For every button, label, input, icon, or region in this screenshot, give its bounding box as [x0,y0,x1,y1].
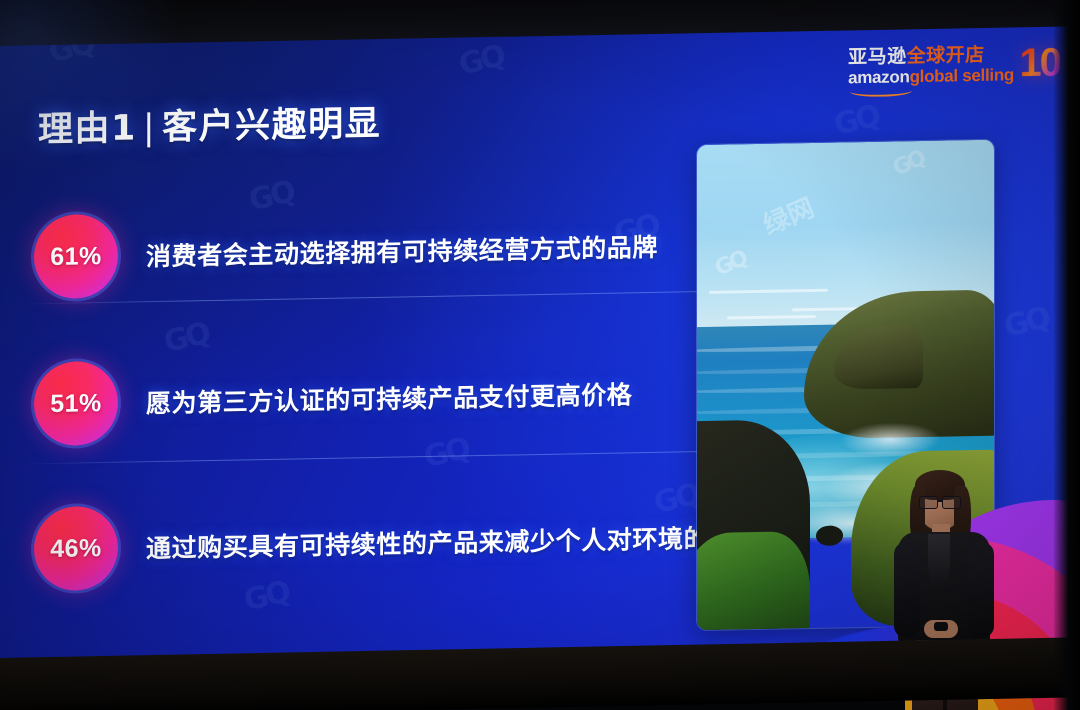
stat-row: 51% 愿为第三方认证的可持续产品支付更高价格 [34,351,632,446]
stat-row: 61% 消费者会主动选择拥有可持续经营方式的品牌 [34,204,658,299]
page-title: 理由1|客户兴趣明显 [38,95,381,152]
stat-description: 消费者会主动选择拥有可持续经营方式的品牌 [146,228,658,273]
stat-row: 46% 通过购买具有可持续性的产品来减少个人对环境的影响 [34,494,760,591]
amazon-global-selling-logo: 亚马逊全球开店 amazonglobal selling [848,45,1014,87]
stat-description: 通过购买具有可持续性的产品来减少个人对环境的影响 [146,518,760,565]
photo-rock [816,526,843,546]
stage-photo: GQ GQ GQ GQ GQ GQ GQ GQ GQ GQ 理由1|客户兴趣明显… [0,0,1080,710]
stat-description: 愿为第三方认证的可持续产品支付更高价格 [146,375,632,420]
brand-english: amazonglobal selling [848,67,1014,87]
brand-cn-white: 亚马逊 [848,45,907,68]
stat-percent-bubble: 61% [34,214,118,300]
stat-percent-bubble: 46% [34,506,118,592]
stat-percent-value: 46% [50,534,102,564]
presenter-arm-left [894,542,920,638]
brand-chinese: 亚马逊全球开店 [848,45,1014,67]
stat-percent-bubble: 51% [34,361,118,447]
brand-cn-orange: 全球开店 [907,44,985,67]
stat-percent-value: 61% [50,242,102,272]
title-separator: | [137,108,162,148]
photo-vegetation-left [697,531,810,630]
stat-percent-value: 51% [50,389,102,419]
presenter-clicker [934,622,948,631]
title-prefix: 理由1 [38,108,137,150]
brand-en-orange: global selling [910,66,1014,87]
title-main: 客户兴趣明显 [162,104,381,148]
presenter-arm-right [968,542,994,638]
room-right-wall [1054,0,1080,710]
presenter-glasses [919,496,961,507]
presenter-lapel [928,534,950,586]
